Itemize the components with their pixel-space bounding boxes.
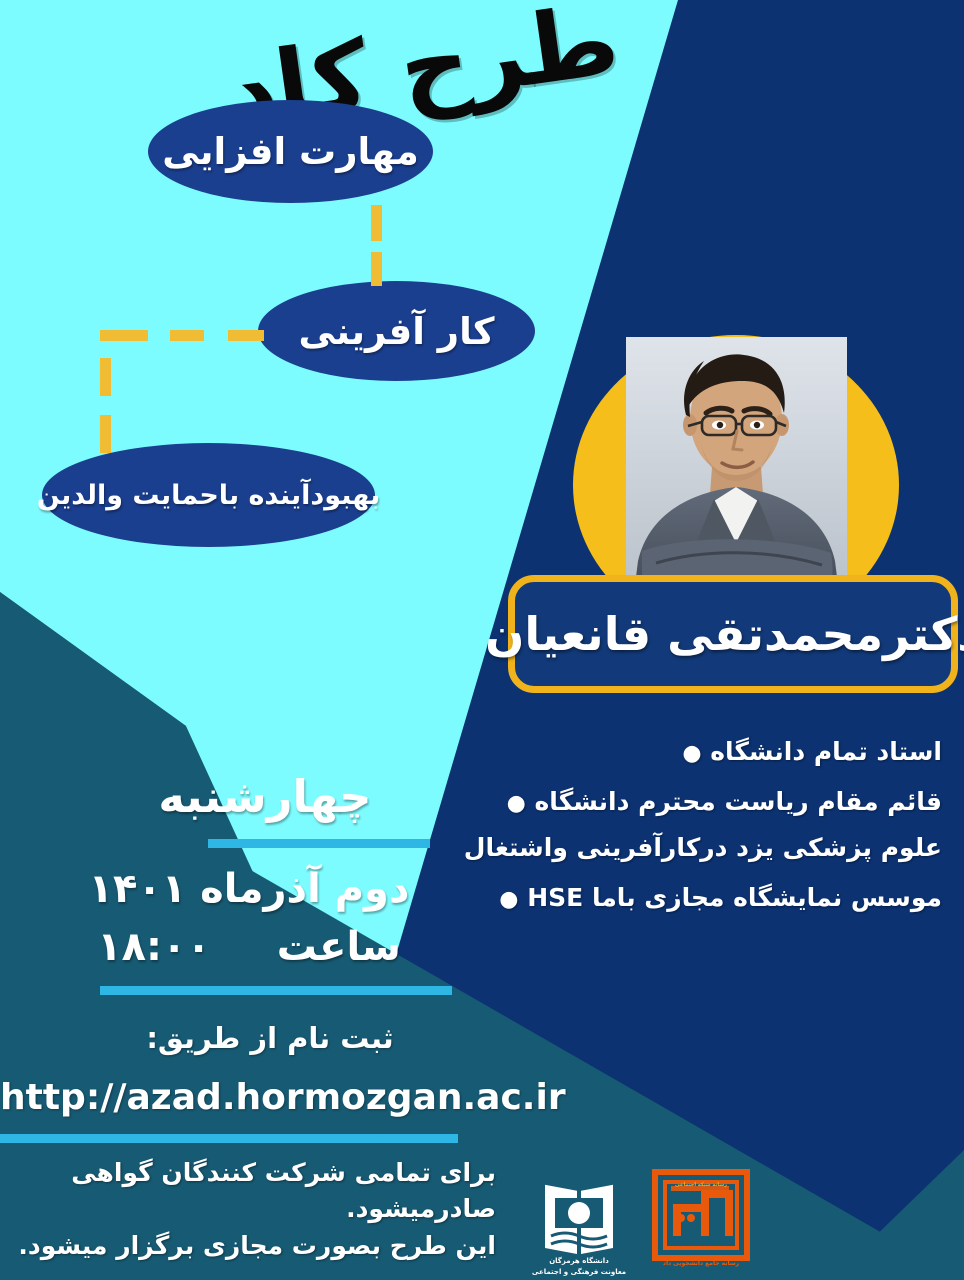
connector-dash bbox=[100, 415, 111, 453]
credential-text: قائم مقام ریاست محترم دانشگاه bbox=[535, 787, 942, 816]
credential-item: استاد تمام دانشگاه ● bbox=[422, 735, 942, 768]
divider-rule bbox=[208, 839, 430, 848]
maharat-logo-caption: رسانه جامع دانشجویی داد bbox=[647, 1260, 755, 1267]
hormozgan-logo-line1: دانشگاه هرمزگان bbox=[527, 1256, 631, 1267]
event-time: ساعت ۱۸:۰۰ bbox=[0, 924, 470, 970]
hormozgan-university-logo: دانشگاه هرمزگان معاونت فرهنگی و اجتماعی bbox=[527, 1168, 631, 1280]
maharat-logo: رسانه شبکه اجتماعی رسانه جامع دانشجویی د… bbox=[647, 1168, 755, 1280]
speaker-portrait bbox=[573, 335, 899, 593]
event-poster: طرح کاد مهارت افزایی کار آفرینی بهبودآین… bbox=[0, 0, 964, 1280]
connector-dash bbox=[170, 330, 204, 341]
speaker-photo-illustration bbox=[626, 337, 847, 593]
footer-notes: برای تمامی شرکت کنندگان گواهی صادرمیشود.… bbox=[0, 1155, 510, 1264]
bullet-icon: ● bbox=[499, 887, 518, 912]
credential-text: علوم پزشکی یزد درکارآفرینی واشتغال bbox=[464, 833, 942, 862]
bullet-icon: ● bbox=[682, 741, 701, 766]
event-info: چهارشنبه دوم آذرماه ۱۴۰۱ ساعت ۱۸:۰۰ ثبت … bbox=[0, 770, 470, 1161]
speaker-nameplate: دکترمحمدتقی قانعیان bbox=[508, 575, 958, 693]
event-day: چهارشنبه bbox=[0, 770, 470, 823]
connector-dash bbox=[100, 358, 111, 396]
note-virtual: این طرح بصورت مجازی برگزار میشود. bbox=[0, 1228, 510, 1264]
credential-text: موسس نمایشگاه مجازی باما HSE bbox=[527, 883, 942, 912]
speaker-photo bbox=[626, 337, 847, 593]
time-value: ۱۸:۰۰ bbox=[97, 924, 211, 970]
concept-label: کار آفرینی bbox=[299, 313, 495, 350]
registration-label: ثبت نام از طریق: bbox=[0, 1021, 470, 1055]
divider-rule bbox=[0, 1134, 458, 1143]
credential-item-continuation: علوم پزشکی یزد درکارآفرینی واشتغال bbox=[422, 831, 942, 864]
concept-label: بهبودآینده باحمایت والدین bbox=[37, 482, 380, 509]
note-certificate: برای تمامی شرکت کنندگان گواهی صادرمیشود. bbox=[0, 1155, 510, 1228]
maharat-logo-top-text: رسانه شبکه اجتماعی bbox=[647, 1182, 755, 1188]
concept-ellipse-skill-development: مهارت افزایی bbox=[148, 100, 433, 203]
credential-text: استاد تمام دانشگاه bbox=[710, 737, 942, 766]
logo-row: رسانه شبکه اجتماعی رسانه جامع دانشجویی د… bbox=[515, 1168, 755, 1280]
registration-url[interactable]: http://azad.hormozgan.ac.ir bbox=[0, 1077, 470, 1118]
divider-rule bbox=[100, 986, 452, 995]
event-date: دوم آذرماه ۱۴۰۱ bbox=[0, 866, 470, 912]
concept-ellipse-future-improvement: بهبودآینده باحمایت والدین bbox=[42, 443, 375, 547]
hormozgan-logo-line2: معاونت فرهنگی و اجتماعی bbox=[527, 1267, 631, 1278]
connector-dash bbox=[228, 330, 264, 341]
connector-dash bbox=[100, 330, 148, 341]
bullet-icon: ● bbox=[507, 791, 526, 816]
time-label: ساعت bbox=[277, 924, 401, 970]
credential-item: موسس نمایشگاه مجازی باما HSE ● bbox=[422, 881, 942, 914]
credentials-list: استاد تمام دانشگاه ● قائم مقام ریاست محت… bbox=[422, 735, 942, 931]
credential-item: قائم مقام ریاست محترم دانشگاه ● bbox=[422, 785, 942, 818]
speaker-name: دکترمحمدتقی قانعیان bbox=[485, 607, 964, 661]
concept-label: مهارت افزایی bbox=[162, 133, 419, 170]
concept-ellipse-entrepreneurship: کار آفرینی bbox=[258, 281, 535, 381]
connector-dash bbox=[371, 205, 382, 241]
connector-dash bbox=[371, 252, 382, 286]
